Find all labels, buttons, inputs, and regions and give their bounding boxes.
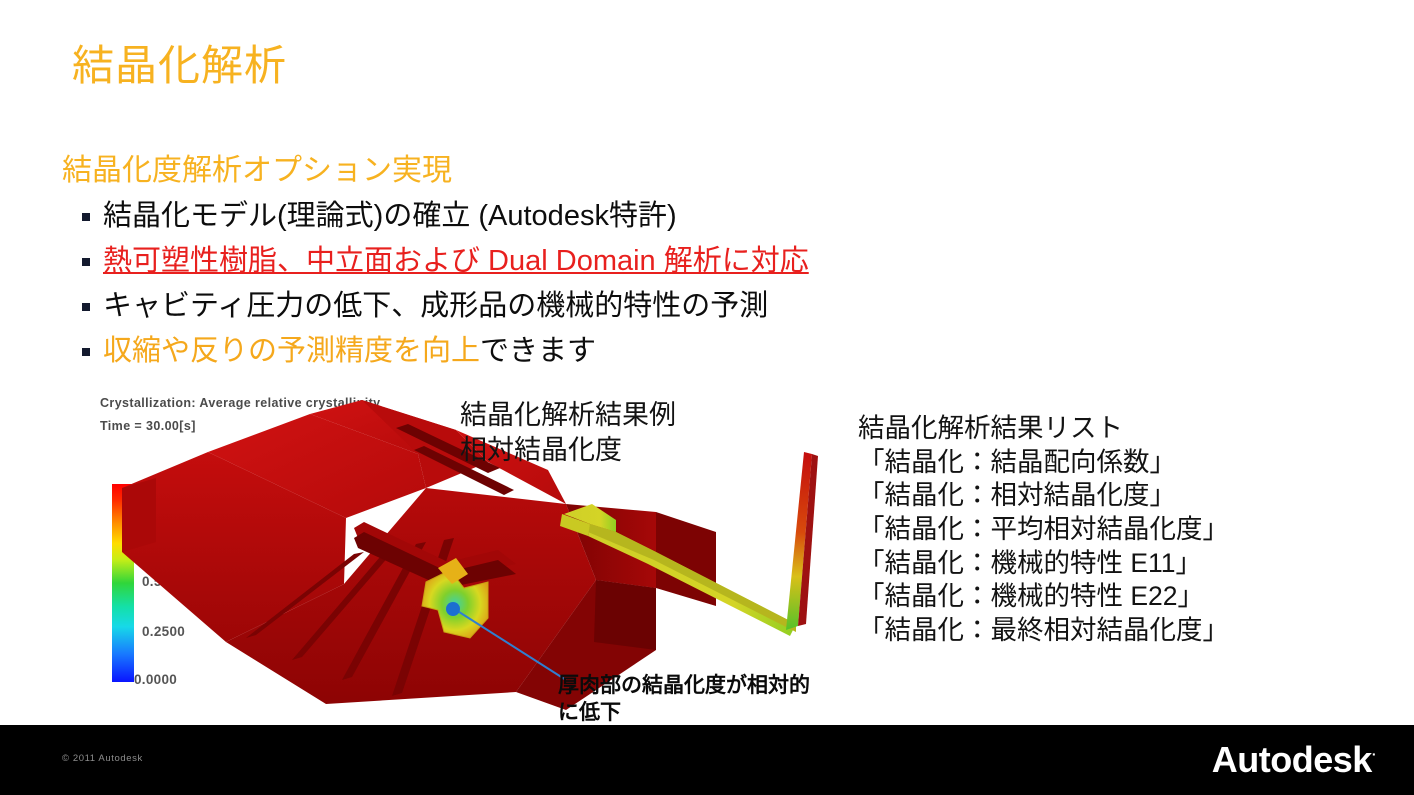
result-list-item-5: 「結晶化：機械的特性 E22」 <box>858 580 1229 614</box>
copyright-text: © 2011 Autodesk <box>62 753 143 764</box>
trademark-mark: · <box>1372 746 1376 762</box>
autodesk-logo-text: Autodesk <box>1212 739 1372 780</box>
page-title: 結晶化解析 <box>72 42 287 90</box>
result-list-item-3: 「結晶化：平均相対結晶化度」 <box>858 513 1229 547</box>
autodesk-logo: Autodesk· <box>1212 739 1376 781</box>
list-item: 結晶化モデル(理論式)の確立 (Autodesk特許) <box>62 196 892 237</box>
simulation-figure: Crystallization: Average relative crysta… <box>96 392 856 732</box>
result-list-item-2: 「結晶化：相対結晶化度」 <box>858 479 1229 513</box>
result-list-item-1: 「結晶化：結晶配向係数」 <box>858 446 1229 480</box>
list-item: 収縮や反りの予測精度を向上できます <box>62 331 892 372</box>
body-content: 結晶化度解析オプション実現 結晶化モデル(理論式)の確立 (Autodesk特許… <box>62 152 892 376</box>
result-list-item-4: 「結晶化：機械的特性 E11」 <box>858 547 1229 581</box>
square-bullet-icon <box>82 213 90 221</box>
bullet-label-2: 熱可塑性樹脂、中立面および Dual Domain 解析に対応 <box>103 241 809 282</box>
bullet-label-4: 収縮や反りの予測精度を向上できます <box>103 331 596 372</box>
square-bullet-icon <box>82 348 90 356</box>
bullet-list: 結晶化モデル(理論式)の確立 (Autodesk特許) 熱可塑性樹脂、中立面およ… <box>62 196 892 373</box>
lead-heading: 結晶化度解析オプション実現 <box>62 152 892 190</box>
bullet-label-1: 結晶化モデル(理論式)の確立 (Autodesk特許) <box>103 196 677 237</box>
bullet-label-4-tail: できます <box>480 335 596 367</box>
result-list: 結晶化解析結果リスト 「結晶化：結晶配向係数」 「結晶化：相対結晶化度」 「結晶… <box>858 412 1229 647</box>
callout-annotation: 厚肉部の結晶化度が相対的 に低下 <box>558 672 810 727</box>
list-item: キャビティ圧力の低下、成形品の機械的特性の予測 <box>62 286 892 327</box>
bullet-label-4-emphasis: 収縮や反りの予測精度を向上 <box>103 335 480 367</box>
slide-canvas: 結晶化解析 結晶化度解析オプション実現 結晶化モデル(理論式)の確立 (Auto… <box>0 0 1414 795</box>
callout-line2: に低下 <box>558 699 810 726</box>
figure-note-line2: 相対結晶化度 <box>460 433 676 468</box>
result-list-heading: 結晶化解析結果リスト <box>858 412 1229 446</box>
bullet-label-3: キャビティ圧力の低下、成形品の機械的特性の予測 <box>103 286 768 327</box>
square-bullet-icon <box>82 303 90 311</box>
result-list-item-6: 「結晶化：最終相対結晶化度」 <box>858 614 1229 648</box>
square-bullet-icon <box>82 258 90 266</box>
footer-bar: © 2011 Autodesk Autodesk· <box>0 725 1414 795</box>
callout-line1: 厚肉部の結晶化度が相対的 <box>558 672 810 699</box>
list-item: 熱可塑性樹脂、中立面および Dual Domain 解析に対応 <box>62 241 892 282</box>
figure-note-line1: 結晶化解析結果例 <box>460 398 676 433</box>
figure-note: 結晶化解析結果例 相対結晶化度 <box>460 398 676 467</box>
